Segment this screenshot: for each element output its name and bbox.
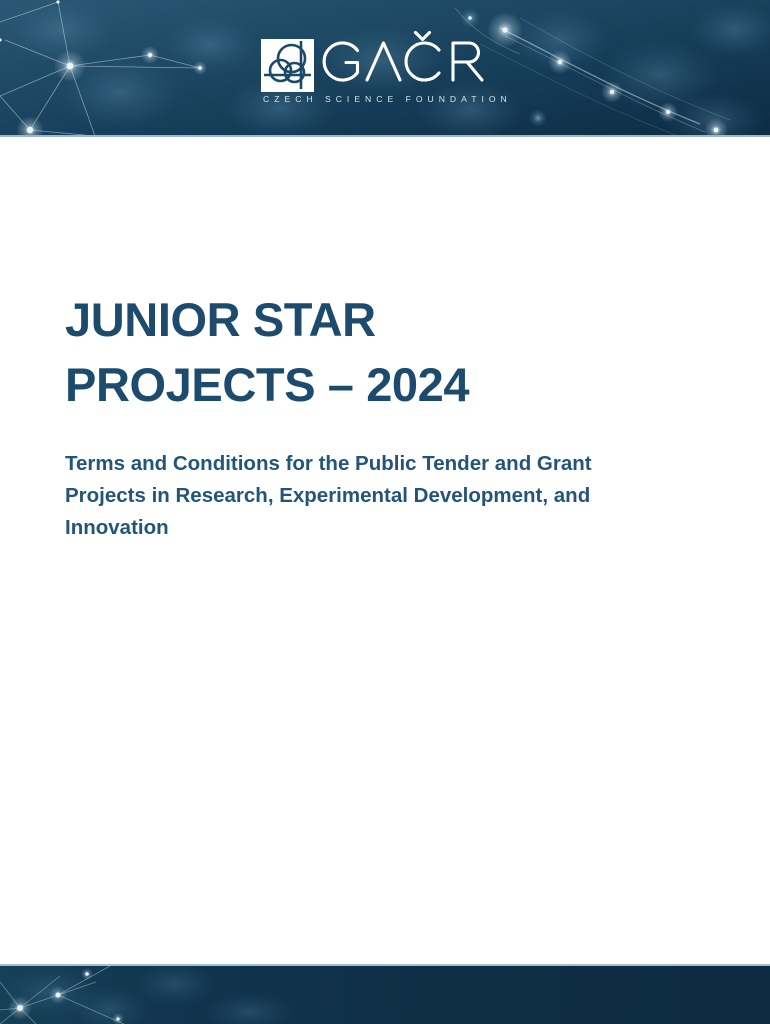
gacr-logo: CZECH SCIENCE FOUNDATION [261, 36, 509, 114]
footer-banner [0, 964, 770, 1024]
footer-banner-divider [0, 964, 770, 966]
cover-title-block: JUNIOR STAR PROJECTS – 2024 Terms and Co… [65, 288, 705, 545]
gacr-interlocking-circles-mark-icon [261, 39, 314, 92]
document-page: CZECH SCIENCE FOUNDATION JUNIOR STAR PRO… [0, 0, 770, 1024]
document-subtitle: Terms and Conditions for the Public Tend… [65, 418, 675, 545]
header-banner-divider [0, 135, 770, 137]
footer-network-background-graphic [0, 964, 770, 1024]
logo-tagline: CZECH SCIENCE FOUNDATION [263, 94, 512, 104]
header-banner: CZECH SCIENCE FOUNDATION [0, 0, 770, 137]
document-title: JUNIOR STAR PROJECTS – 2024 [65, 288, 705, 418]
gacr-wordmark [317, 30, 507, 90]
document-title-line-2: PROJECTS – 2024 [65, 358, 469, 411]
document-title-line-1: JUNIOR STAR [65, 293, 376, 346]
